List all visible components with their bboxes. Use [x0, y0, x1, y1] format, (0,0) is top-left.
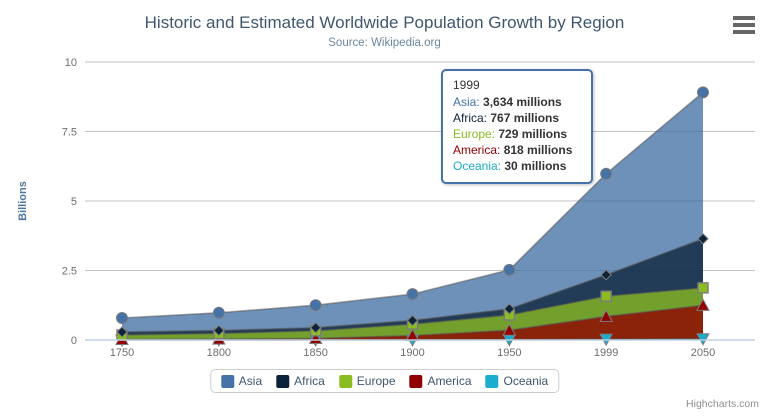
x-axis-tick-label: 1750 [110, 347, 134, 359]
legend-item-africa[interactable]: Africa [276, 374, 325, 388]
tooltip-row: Europe: 729 millions [453, 126, 581, 142]
x-axis-tick-label: 1999 [594, 347, 618, 359]
x-axis-tick-label: 1900 [400, 347, 424, 359]
legend-swatch-icon [339, 375, 352, 388]
data-point-marker[interactable] [601, 168, 612, 179]
y-axis-tick-label: 5 [71, 196, 77, 208]
legend-item-label: Europe [357, 374, 396, 388]
tooltip-series-value: 3,634 millions [483, 95, 562, 109]
tooltip-row: America: 818 millions [453, 142, 581, 158]
y-axis-tick-label: 2.5 [62, 266, 77, 278]
legend-item-label: Africa [294, 374, 325, 388]
tooltip-series-name: Asia: [453, 95, 483, 109]
data-point-marker[interactable] [310, 300, 321, 311]
tooltip-row: Oceania: 30 millions [453, 158, 581, 174]
tooltip-row: Africa: 767 millions [453, 110, 581, 126]
data-point-marker[interactable] [117, 313, 128, 324]
legend-item-asia[interactable]: Asia [221, 374, 262, 388]
y-axis-tick-label: 10 [65, 57, 77, 69]
legend-swatch-icon [410, 375, 423, 388]
tooltip-series-value: 818 millions [504, 143, 573, 157]
legend-item-label: America [428, 374, 472, 388]
tooltip-series-value: 30 millions [504, 159, 566, 173]
tooltip-rows: Asia: 3,634 millionsAfrica: 767 millions… [453, 94, 581, 174]
legend-item-label: Oceania [504, 374, 549, 388]
data-point-marker[interactable] [213, 307, 224, 318]
chart-legend: AsiaAfricaEuropeAmericaOceania [210, 369, 559, 393]
data-point-marker[interactable] [698, 87, 709, 98]
x-axis-tick-label: 1950 [497, 347, 521, 359]
tooltip-series-name: America: [453, 143, 504, 157]
legend-swatch-icon [276, 375, 289, 388]
legend-item-europe[interactable]: Europe [339, 374, 396, 388]
y-axis-title: Billions [17, 181, 29, 221]
x-axis-tick-label: 1850 [303, 347, 327, 359]
y-axis-tick-label: 7.5 [62, 127, 77, 139]
legend-item-america[interactable]: America [410, 374, 472, 388]
tooltip-series-value: 767 millions [490, 111, 559, 125]
plot-area: 02.557.510Billions1750180018501900195019… [0, 0, 769, 416]
tooltip-series-name: Oceania: [453, 159, 504, 173]
tooltip: 1999 Asia: 3,634 millionsAfrica: 767 mil… [441, 69, 593, 184]
x-axis-tick-label: 1800 [207, 347, 231, 359]
data-point-marker[interactable] [601, 291, 611, 301]
data-point-marker[interactable] [504, 264, 515, 275]
tooltip-series-name: Europe: [453, 127, 498, 141]
legend-item-label: Asia [239, 374, 262, 388]
tooltip-header: 1999 [453, 78, 581, 92]
data-point-marker[interactable] [698, 283, 708, 293]
y-axis-tick-label: 0 [71, 335, 77, 347]
chart-container: Historic and Estimated Worldwide Populat… [0, 0, 769, 416]
highcharts-credits[interactable]: Highcharts.com [686, 398, 759, 410]
tooltip-series-value: 729 millions [498, 127, 567, 141]
data-point-marker[interactable] [407, 289, 418, 300]
legend-swatch-icon [486, 375, 499, 388]
tooltip-row: Asia: 3,634 millions [453, 94, 581, 110]
x-axis-tick-label: 2050 [691, 347, 715, 359]
legend-item-oceania[interactable]: Oceania [486, 374, 549, 388]
tooltip-series-name: Africa: [453, 111, 490, 125]
legend-swatch-icon [221, 375, 234, 388]
